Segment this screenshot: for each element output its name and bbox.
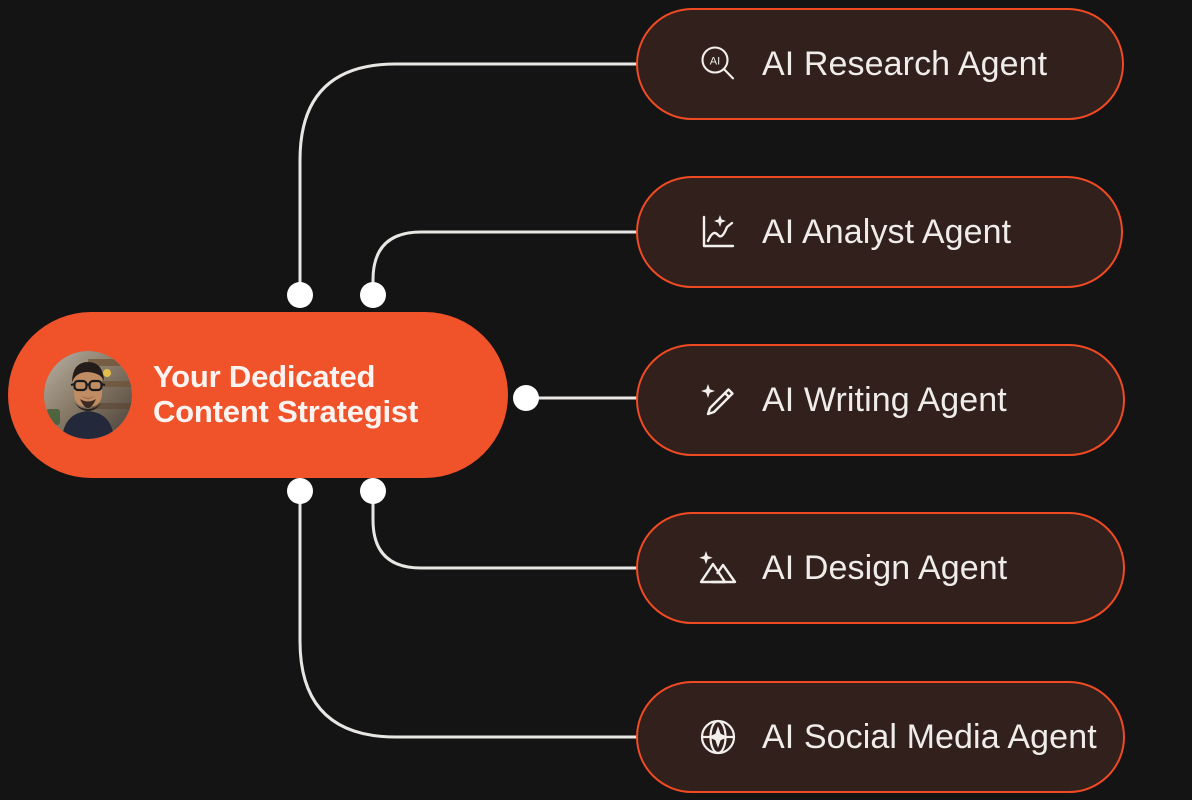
- avatar: [44, 351, 132, 439]
- agent-network-diagram: Your Dedicated Content Strategist AI AI …: [0, 0, 1192, 800]
- central-node-title: Your Dedicated Content Strategist: [153, 360, 418, 429]
- agent-card-social-media[interactable]: AI Social Media Agent: [636, 681, 1125, 793]
- agent-card-analyst[interactable]: AI Analyst Agent: [636, 176, 1123, 288]
- ai-magnifier-icon: AI: [696, 42, 740, 86]
- hub-port-top-right[interactable]: [360, 282, 386, 308]
- sparkle-mountains-icon: [696, 546, 740, 590]
- central-node[interactable]: Your Dedicated Content Strategist: [8, 312, 508, 478]
- hub-port-right[interactable]: [513, 385, 539, 411]
- wire-to-social: [300, 491, 640, 737]
- hub-port-bottom-right[interactable]: [360, 478, 386, 504]
- agent-card-research[interactable]: AI AI Research Agent: [636, 8, 1124, 120]
- svg-text:AI: AI: [710, 55, 720, 67]
- agent-card-design[interactable]: AI Design Agent: [636, 512, 1125, 624]
- wire-to-analyst: [373, 232, 640, 295]
- wire-to-research: [300, 64, 640, 295]
- agent-card-label: AI Social Media Agent: [762, 718, 1097, 757]
- agent-card-label: AI Writing Agent: [762, 381, 1007, 420]
- wire-to-design: [373, 491, 640, 568]
- hub-port-top-left[interactable]: [287, 282, 313, 308]
- agent-card-label: AI Analyst Agent: [762, 213, 1011, 252]
- agent-card-label: AI Design Agent: [762, 549, 1007, 588]
- agent-card-label: AI Research Agent: [762, 45, 1047, 84]
- sparkle-globe-icon: [696, 715, 740, 759]
- sparkle-pencil-icon: [696, 378, 740, 422]
- hub-port-bottom-left[interactable]: [287, 478, 313, 504]
- agent-card-writing[interactable]: AI Writing Agent: [636, 344, 1125, 456]
- sparkle-line-chart-icon: [696, 210, 740, 254]
